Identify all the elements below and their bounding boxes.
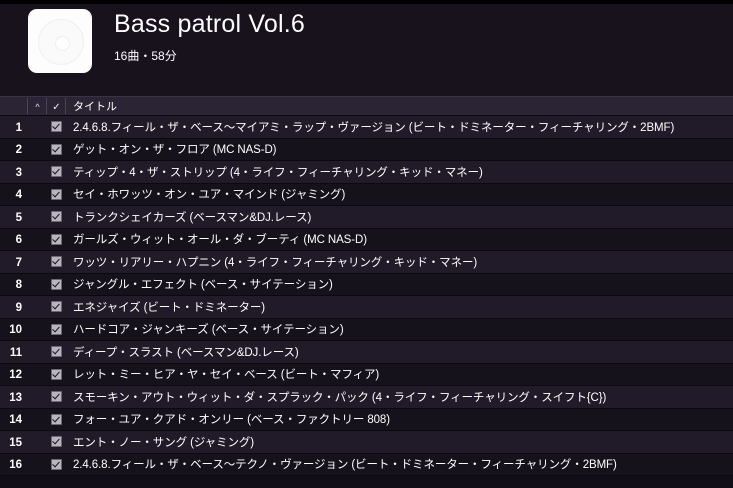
- checkbox-checked-icon[interactable]: [51, 166, 62, 177]
- row-checkbox-cell[interactable]: [47, 163, 66, 181]
- track-title: ガールズ・ウィット・オール・ダ・ブーティ (MC NAS-D): [73, 234, 367, 246]
- row-number-cell: 7: [0, 253, 28, 271]
- row-number-cell: 8: [0, 275, 28, 293]
- row-number: 1: [16, 122, 22, 134]
- row-number: 3: [16, 167, 22, 179]
- track-title: エント・ノー・サング (ジャミング): [73, 437, 254, 449]
- table-row[interactable]: 13スモーキン・アウト・ウィット・ダ・スプラック・パック (4・ライフ・フィーチ…: [0, 386, 733, 409]
- checkbox-checked-icon[interactable]: [51, 121, 62, 132]
- table-body: 12.4.6.8.フィール・ザ・ベース〜マイアミ・ラップ・ヴァージョン (ビート…: [0, 116, 733, 476]
- row-title-cell[interactable]: 2.4.6.8.フィール・ザ・ベース〜マイアミ・ラップ・ヴァージョン (ビート・…: [66, 118, 733, 136]
- row-number-cell: 3: [0, 163, 28, 181]
- track-title: 2.4.6.8.フィール・ザ・ベース〜テクノ・ヴァージョン (ビート・ドミネータ…: [73, 459, 617, 471]
- row-number: 6: [16, 234, 22, 246]
- album-artwork[interactable]: [28, 9, 92, 73]
- row-checkbox-cell[interactable]: [47, 433, 66, 451]
- track-title: ハードコア・ジャンキーズ (ベース・サイテーション): [73, 324, 344, 336]
- track-title: ディープ・スラスト (ベースマン&DJ.レース): [73, 347, 299, 359]
- checkbox-checked-icon[interactable]: [51, 324, 62, 335]
- row-checkbox-cell[interactable]: [47, 253, 66, 271]
- row-checkbox-cell[interactable]: [47, 230, 66, 248]
- row-number: 4: [16, 189, 22, 201]
- table-row[interactable]: 2ゲット・オン・ザ・フロア (MC NAS-D): [0, 139, 733, 162]
- row-number-cell: 12: [0, 365, 28, 383]
- row-title-cell[interactable]: ワッツ・リアリー・ハプニン (4・ライフ・フィーチャリング・キッド・マネー): [66, 253, 733, 271]
- album-title: Bass patrol Vol.6: [114, 8, 305, 40]
- compact-disc-hub-icon: [38, 19, 84, 65]
- row-title-cell[interactable]: セイ・ホワッツ・オン・ユア・マインド (ジャミング): [66, 185, 733, 203]
- row-number-cell: 5: [0, 208, 28, 226]
- table-row[interactable]: 3ティップ・4・ザ・ストリップ (4・ライフ・フィーチャリング・キッド・マネー): [0, 161, 733, 184]
- row-title-cell[interactable]: エント・ノー・サング (ジャミング): [66, 433, 733, 451]
- row-title-cell[interactable]: エネジャイズ (ビート・ドミネーター): [66, 298, 733, 316]
- row-number-cell: 14: [0, 410, 28, 428]
- row-title-cell[interactable]: ガールズ・ウィット・オール・ダ・ブーティ (MC NAS-D): [66, 230, 733, 248]
- track-title: ワッツ・リアリー・ハプニン (4・ライフ・フィーチャリング・キッド・マネー): [73, 257, 477, 269]
- row-checkbox-cell[interactable]: [47, 118, 66, 136]
- checkbox-checked-icon[interactable]: [51, 369, 62, 380]
- row-number: 10: [9, 324, 22, 336]
- row-number-cell: 4: [0, 185, 28, 203]
- row-checkbox-cell[interactable]: [47, 275, 66, 293]
- table-row[interactable]: 14フォー・ユア・クアド・オンリー (ベース・ファクトリー 808): [0, 409, 733, 432]
- checkbox-checked-icon[interactable]: [51, 459, 62, 470]
- row-title-cell[interactable]: レット・ミー・ヒア・ヤ・セイ・ベース (ビート・マフィア): [66, 365, 733, 383]
- row-number: 2: [16, 144, 22, 156]
- checkbox-checked-icon[interactable]: [51, 211, 62, 222]
- track-title: トランクシェイカーズ (ベースマン&DJ.レース): [73, 212, 311, 224]
- track-title: スモーキン・アウト・ウィット・ダ・スプラック・パック (4・ライフ・フィーチャリ…: [73, 392, 606, 404]
- row-number-cell: 9: [0, 298, 28, 316]
- row-checkbox-cell[interactable]: [47, 298, 66, 316]
- column-header-sort[interactable]: ^: [28, 97, 47, 115]
- row-number: 8: [16, 279, 22, 291]
- row-number-cell: 11: [0, 343, 28, 361]
- table-row[interactable]: 4セイ・ホワッツ・オン・ユア・マインド (ジャミング): [0, 184, 733, 207]
- checkbox-checked-icon[interactable]: [51, 144, 62, 155]
- column-header-title[interactable]: タイトル: [66, 97, 733, 115]
- album-header: Bass patrol Vol.6 16曲・58分: [0, 4, 733, 96]
- row-number: 15: [9, 437, 22, 449]
- row-title-cell[interactable]: スモーキン・アウト・ウィット・ダ・スプラック・パック (4・ライフ・フィーチャリ…: [66, 388, 733, 406]
- checkbox-checked-icon[interactable]: [51, 279, 62, 290]
- checkbox-checked-icon[interactable]: [51, 189, 62, 200]
- chevron-up-icon: ^: [35, 103, 39, 112]
- track-title: フォー・ユア・クアド・オンリー (ベース・ファクトリー 808): [73, 414, 390, 426]
- column-header-title-label: タイトル: [73, 101, 117, 113]
- checkbox-checked-icon[interactable]: [51, 346, 62, 357]
- checkbox-checked-icon[interactable]: [51, 436, 62, 447]
- track-title: ティップ・4・ザ・ストリップ (4・ライフ・フィーチャリング・キッド・マネー): [73, 167, 483, 179]
- row-number-cell: 10: [0, 320, 28, 338]
- checkbox-checked-icon[interactable]: [51, 234, 62, 245]
- track-title: セイ・ホワッツ・オン・ユア・マインド (ジャミング): [73, 189, 345, 201]
- track-title: ジャングル・エフェクト (ベース・サイテーション): [73, 279, 333, 291]
- row-checkbox-cell[interactable]: [47, 410, 66, 428]
- track-title: 2.4.6.8.フィール・ザ・ベース〜マイアミ・ラップ・ヴァージョン (ビート・…: [73, 122, 674, 134]
- table-row[interactable]: 5トランクシェイカーズ (ベースマン&DJ.レース): [0, 206, 733, 229]
- table-row[interactable]: 10ハードコア・ジャンキーズ (ベース・サイテーション): [0, 319, 733, 342]
- row-checkbox-cell[interactable]: [47, 365, 66, 383]
- row-title-cell[interactable]: ディープ・スラスト (ベースマン&DJ.レース): [66, 343, 733, 361]
- row-title-cell[interactable]: ハードコア・ジャンキーズ (ベース・サイテーション): [66, 320, 733, 338]
- column-divider-sort[interactable]: [46, 98, 47, 114]
- music-library-album-view: Bass patrol Vol.6 16曲・58分 ^ ✓ タイトル 12.4.…: [0, 0, 733, 488]
- album-artwork-container[interactable]: [28, 9, 92, 73]
- row-number: 9: [16, 302, 22, 314]
- row-number-cell: 1: [0, 118, 28, 136]
- row-title-cell[interactable]: 2.4.6.8.フィール・ザ・ベース〜テクノ・ヴァージョン (ビート・ドミネータ…: [66, 455, 733, 473]
- row-title-cell[interactable]: ジャングル・エフェクト (ベース・サイテーション): [66, 275, 733, 293]
- column-header-checkbox[interactable]: ✓: [47, 97, 66, 115]
- track-title: レット・ミー・ヒア・ヤ・セイ・ベース (ビート・マフィア): [73, 369, 379, 381]
- row-number-cell: 15: [0, 433, 28, 451]
- table-empty-area: [0, 476, 733, 488]
- checkbox-checked-icon[interactable]: [51, 414, 62, 425]
- row-title-cell[interactable]: ゲット・オン・ザ・フロア (MC NAS-D): [66, 140, 733, 158]
- row-number-cell: 6: [0, 230, 28, 248]
- table-row[interactable]: 7ワッツ・リアリー・ハプニン (4・ライフ・フィーチャリング・キッド・マネー): [0, 251, 733, 274]
- table-row[interactable]: 12レット・ミー・ヒア・ヤ・セイ・ベース (ビート・マフィア): [0, 364, 733, 387]
- table-row[interactable]: 8ジャングル・エフェクト (ベース・サイテーション): [0, 274, 733, 297]
- track-list-table: ^ ✓ タイトル 12.4.6.8.フィール・ザ・ベース〜マイアミ・ラップ・ヴァ…: [0, 96, 733, 488]
- checkbox-checked-icon[interactable]: [51, 301, 62, 312]
- checkmark-icon: ✓: [52, 102, 60, 113]
- column-divider-num[interactable]: [27, 98, 28, 114]
- row-number-cell: 16: [0, 455, 28, 473]
- row-number: 13: [9, 392, 22, 404]
- track-title: エネジャイズ (ビート・ドミネーター): [73, 302, 265, 314]
- table-row[interactable]: 12.4.6.8.フィール・ザ・ベース〜マイアミ・ラップ・ヴァージョン (ビート…: [0, 116, 733, 139]
- table-header-row: ^ ✓ タイトル: [0, 96, 733, 116]
- row-number-cell: 13: [0, 388, 28, 406]
- row-checkbox-cell[interactable]: [47, 140, 66, 158]
- row-checkbox-cell[interactable]: [47, 388, 66, 406]
- row-title-cell[interactable]: フォー・ユア・クアド・オンリー (ベース・ファクトリー 808): [66, 410, 733, 428]
- row-number: 12: [9, 369, 22, 381]
- album-metadata: Bass patrol Vol.6 16曲・58分: [114, 8, 305, 64]
- track-title: ゲット・オン・ザ・フロア (MC NAS-D): [73, 144, 276, 156]
- row-number: 11: [10, 347, 22, 359]
- row-checkbox-cell[interactable]: [47, 343, 66, 361]
- row-number: 7: [16, 257, 22, 269]
- row-checkbox-cell[interactable]: [47, 320, 66, 338]
- checkbox-checked-icon[interactable]: [51, 256, 62, 267]
- row-number-cell: 2: [0, 140, 28, 158]
- row-title-cell[interactable]: ティップ・4・ザ・ストリップ (4・ライフ・フィーチャリング・キッド・マネー): [66, 163, 733, 181]
- album-subtitle: 16曲・58分: [114, 49, 305, 64]
- table-row[interactable]: 6ガールズ・ウィット・オール・ダ・ブーティ (MC NAS-D): [0, 229, 733, 252]
- row-number: 16: [9, 459, 22, 471]
- row-number: 5: [16, 212, 22, 224]
- table-row[interactable]: 9エネジャイズ (ビート・ドミネーター): [0, 296, 733, 319]
- row-checkbox-cell[interactable]: [47, 455, 66, 473]
- row-checkbox-cell[interactable]: [47, 208, 66, 226]
- row-number: 14: [9, 414, 22, 426]
- table-row[interactable]: 15エント・ノー・サング (ジャミング): [0, 431, 733, 454]
- column-divider-check[interactable]: [65, 98, 66, 114]
- table-row[interactable]: 11ディープ・スラスト (ベースマン&DJ.レース): [0, 341, 733, 364]
- row-title-cell[interactable]: トランクシェイカーズ (ベースマン&DJ.レース): [66, 208, 733, 226]
- row-checkbox-cell[interactable]: [47, 185, 66, 203]
- table-row[interactable]: 162.4.6.8.フィール・ザ・ベース〜テクノ・ヴァージョン (ビート・ドミネ…: [0, 454, 733, 477]
- checkbox-checked-icon[interactable]: [51, 391, 62, 402]
